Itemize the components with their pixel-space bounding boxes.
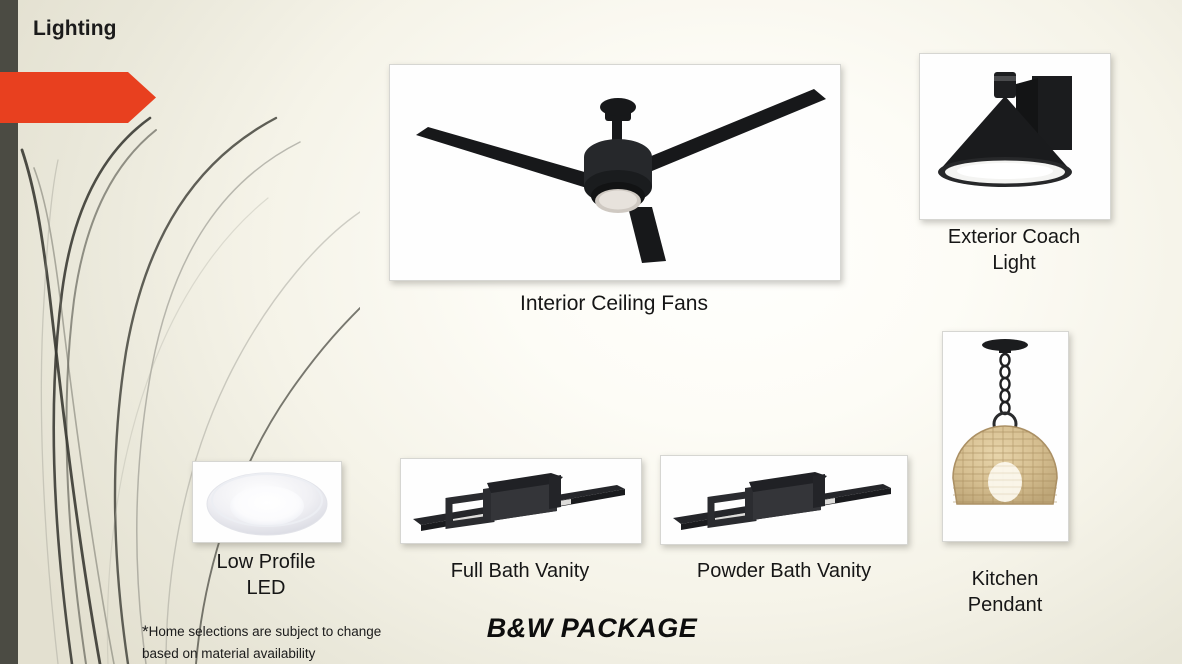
ceiling-fan-icon — [390, 65, 840, 280]
caption-ceiling-fan: Interior Ceiling Fans — [389, 290, 839, 318]
disclaimer-asterisk: * — [142, 622, 149, 641]
globe-pendant-icon — [943, 332, 1068, 541]
disclaimer-body: Home selections are subject to change ba… — [142, 624, 381, 661]
product-photo-powder-bath-vanity[interactable] — [660, 455, 908, 545]
product-photo-ceiling-fan[interactable] — [389, 64, 841, 281]
package-label: B&W PACKAGE — [472, 613, 712, 644]
slide-canvas: Lighting In — [0, 0, 1182, 664]
caption-powder-bath-vanity: Powder Bath Vanity — [650, 558, 918, 584]
product-photo-low-profile-led[interactable] — [192, 461, 342, 543]
caption-low-profile-led: Low Profile LED — [175, 549, 357, 602]
product-photo-full-bath-vanity[interactable] — [400, 458, 642, 544]
caption-coach-light: Exterior Coach Light — [899, 224, 1129, 277]
product-photo-coach-light[interactable] — [919, 53, 1111, 220]
vanity-bar-icon — [401, 459, 641, 543]
coach-light-icon — [920, 54, 1110, 219]
orange-arrow-banner — [0, 72, 156, 123]
page-title: Lighting — [33, 17, 117, 41]
disc-led-icon — [193, 462, 341, 542]
caption-full-bath-vanity: Full Bath Vanity — [395, 558, 645, 584]
vanity-bar-icon — [661, 456, 907, 544]
product-photo-kitchen-pendant[interactable] — [942, 331, 1069, 542]
disclaimer-text: *Home selections are subject to change b… — [142, 620, 432, 663]
caption-kitchen-pendant: Kitchen Pendant — [920, 566, 1090, 619]
